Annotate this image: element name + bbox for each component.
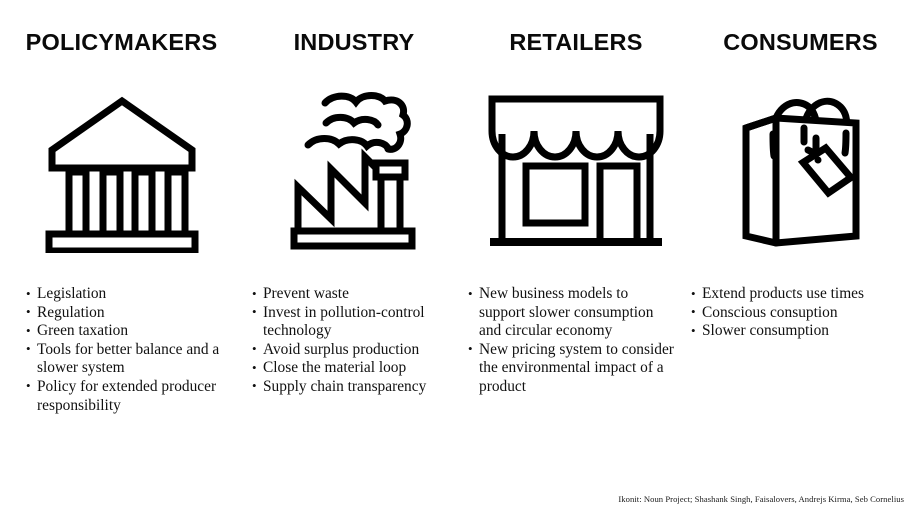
bank-building-icon <box>0 88 243 253</box>
factory-icon <box>243 88 465 253</box>
image-credit: Ikonit: Noun Project; Shashank Singh, Fa… <box>618 494 904 505</box>
list-industry: Prevent waste Invest in pollution-contro… <box>252 285 457 397</box>
column-title-consumers: CONSUMERS <box>687 28 914 56</box>
column-retailers: RETAILERS New business models to support… <box>465 0 687 514</box>
list-item: New business models to support slower co… <box>468 285 678 341</box>
list-item: Invest in pollution-control technology <box>252 304 457 341</box>
infographic-board: POLICYMAKERS Legislation Regulation Gree… <box>0 0 914 514</box>
list-item: Supply chain transparency <box>252 378 457 397</box>
list-item: Close the material loop <box>252 359 457 378</box>
column-title-retailers: RETAILERS <box>465 28 687 56</box>
storefront-icon <box>465 88 687 253</box>
column-policymakers: POLICYMAKERS Legislation Regulation Gree… <box>0 0 243 514</box>
list-item: Avoid surplus production <box>252 341 457 360</box>
list-item: Tools for better balance and a slower sy… <box>26 341 241 378</box>
list-retailers: New business models to support slower co… <box>468 285 678 397</box>
list-consumers: Extend products use times Conscious cons… <box>691 285 906 341</box>
list-item: Prevent waste <box>252 285 457 304</box>
column-consumers: CONSUMERS Extend pr <box>687 0 914 514</box>
list-item: Green taxation <box>26 322 241 341</box>
column-title-policymakers: POLICYMAKERS <box>0 28 243 56</box>
list-item: Policy for extended producer responsibil… <box>26 378 241 415</box>
list-policymakers: Legislation Regulation Green taxation To… <box>26 285 241 415</box>
list-item: New pricing system to consider the envir… <box>468 341 678 397</box>
shopping-bag-icon <box>687 88 914 253</box>
list-item: Legislation <box>26 285 241 304</box>
column-industry: INDUSTRY Prevent waste In <box>243 0 465 514</box>
list-item: Regulation <box>26 304 241 323</box>
list-item: Slower consumption <box>691 322 906 341</box>
list-item: Extend products use times <box>691 285 906 304</box>
column-title-industry: INDUSTRY <box>243 28 465 56</box>
list-item: Conscious consuption <box>691 304 906 323</box>
